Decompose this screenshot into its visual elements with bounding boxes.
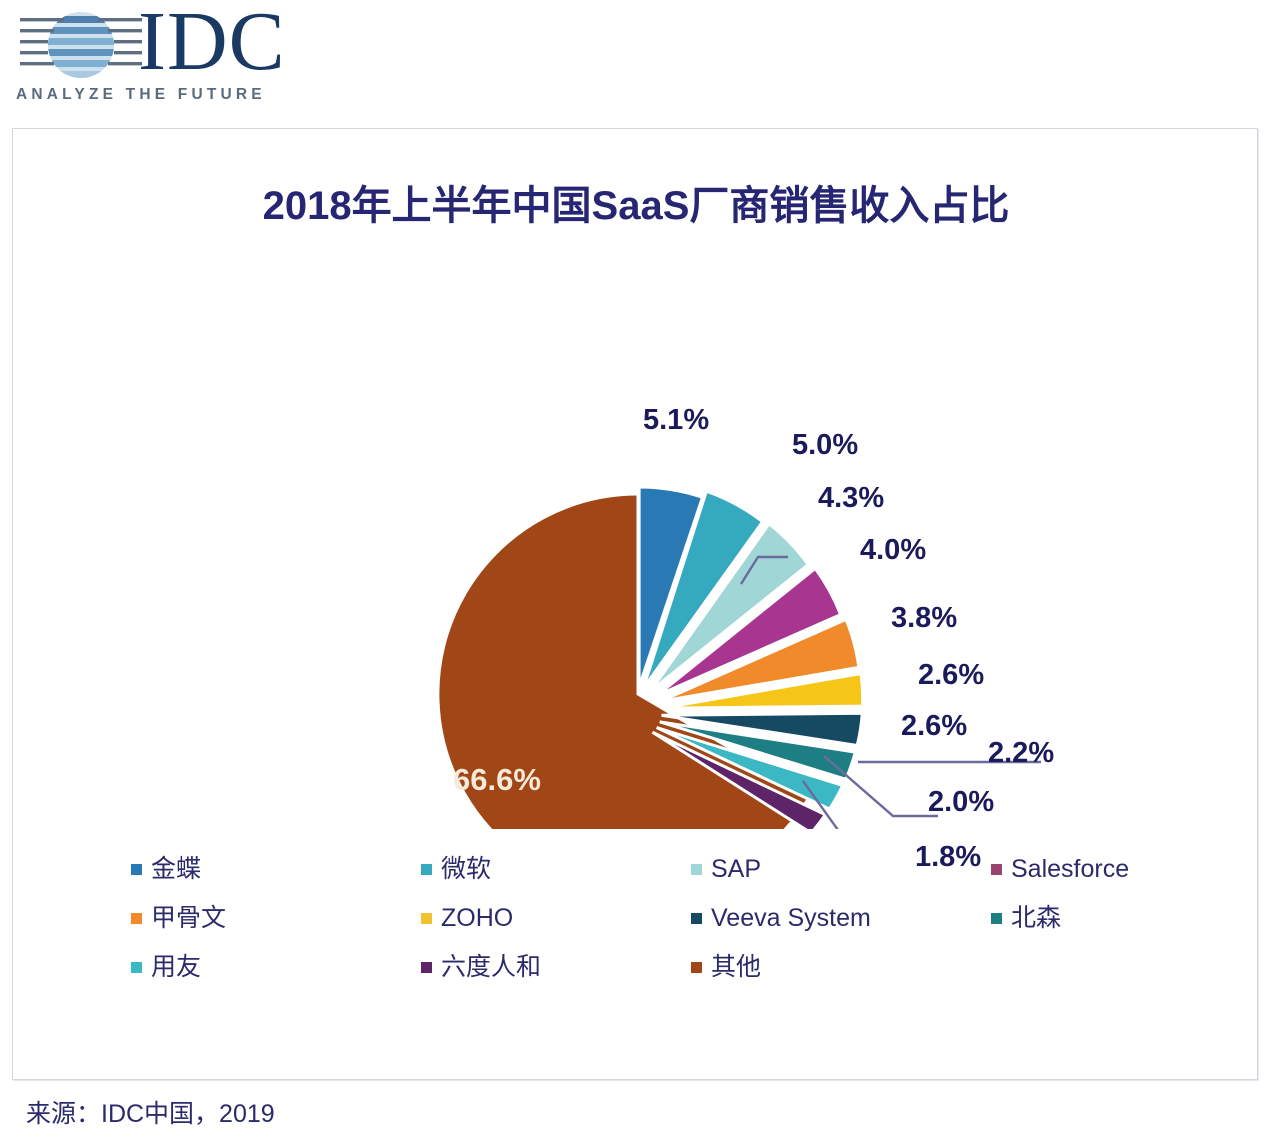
pie-label-jindie: 5.1% <box>643 404 709 437</box>
legend-item-sap[interactable]: SAP <box>691 857 991 882</box>
legend-label: SAP <box>711 857 761 882</box>
pie-label-other: 66.6% <box>453 762 541 798</box>
pie-label-sap: 4.3% <box>818 482 884 515</box>
legend-label: 其他 <box>711 955 761 980</box>
legend-swatch-icon <box>691 864 702 875</box>
legend-label: 用友 <box>151 955 201 980</box>
pie-label-veeva: 2.6% <box>901 710 967 743</box>
legend-label: 北森 <box>1011 906 1061 931</box>
legend-label: 微软 <box>441 857 491 882</box>
legend-item-microsoft[interactable]: 微软 <box>421 857 691 882</box>
page-header: IDC ANALYZE THE FUTURE <box>0 0 1276 118</box>
legend-swatch-icon <box>131 913 142 924</box>
legend-item-jindie[interactable]: 金蝶 <box>131 857 421 882</box>
legend-swatch-icon <box>691 913 702 924</box>
legend-swatch-icon <box>131 962 142 973</box>
legend-swatch-icon <box>421 913 432 924</box>
legend-swatch-icon <box>421 864 432 875</box>
legend-swatch-icon <box>421 962 432 973</box>
chart-container: 2018年上半年中国SaaS厂商销售收入占比 <box>12 128 1258 1080</box>
legend-label: ZOHO <box>441 906 513 931</box>
legend-label: 金蝶 <box>151 857 201 882</box>
pie-label-beisen: 2.2% <box>988 737 1054 770</box>
legend-label: 六度人和 <box>441 955 541 980</box>
legend-swatch-icon <box>691 962 702 973</box>
legend-item-veeva[interactable]: Veeva System <box>691 906 991 931</box>
legend-swatch-icon <box>991 913 1002 924</box>
pie-label-microsoft: 5.0% <box>792 429 858 462</box>
legend-swatch-icon <box>131 864 142 875</box>
legend-item-oracle[interactable]: 甲骨文 <box>131 906 421 931</box>
idc-globe-icon <box>18 8 144 86</box>
pie-chart <box>13 239 1259 829</box>
pie-label-oracle: 3.8% <box>891 602 957 635</box>
legend-label: 甲骨文 <box>151 906 226 931</box>
legend-label: Veeva System <box>711 906 871 931</box>
legend-item-zoho[interactable]: ZOHO <box>421 906 691 931</box>
legend-item-yonyou[interactable]: 用友 <box>131 955 421 980</box>
legend-swatch-icon <box>991 864 1002 875</box>
legend-item-liudurenhe[interactable]: 六度人和 <box>421 955 691 980</box>
legend-label: Salesforce <box>1011 857 1129 882</box>
chart-legend: 金蝶 微软 SAP Salesforce 甲骨文 ZOHO Veeva Syst… <box>131 845 1191 995</box>
idc-logo: IDC ANALYZE THE FUTURE <box>10 6 300 110</box>
pie-label-yonyou: 2.0% <box>928 786 994 819</box>
idc-tagline: ANALYZE THE FUTURE <box>16 86 266 104</box>
source-note: 来源：IDC中国，2019 <box>26 1094 275 1130</box>
pie-label-zoho: 2.6% <box>918 659 984 692</box>
legend-item-salesforce[interactable]: Salesforce <box>991 857 1191 882</box>
legend-item-beisen[interactable]: 北森 <box>991 906 1191 931</box>
chart-title: 2018年上半年中国SaaS厂商销售收入占比 <box>13 173 1259 231</box>
legend-item-other[interactable]: 其他 <box>691 955 991 980</box>
pie-label-salesforce: 4.0% <box>860 534 926 567</box>
idc-wordmark: IDC <box>138 0 286 84</box>
